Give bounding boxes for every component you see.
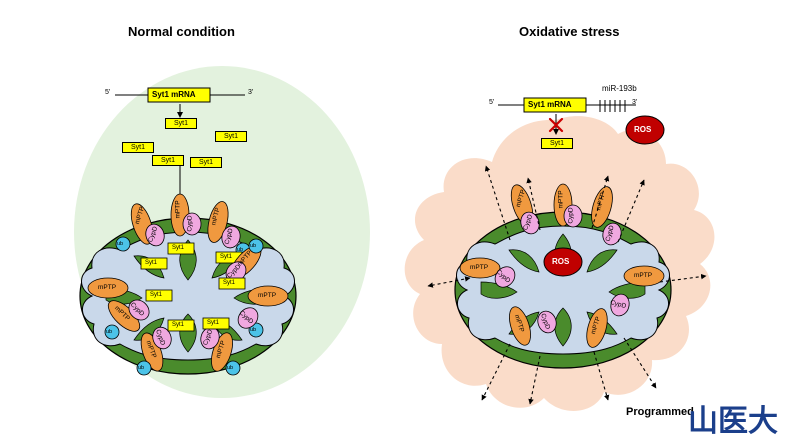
right-three-prime-label: 3'	[632, 99, 637, 106]
ub-label-l7: ub	[250, 327, 256, 333]
mptp-label-r5: mPTP	[634, 272, 652, 279]
syt1-box-blocked: Syt1	[541, 138, 573, 149]
ub-label-l5: ub	[138, 365, 144, 371]
right-five-prime-label: 5'	[489, 99, 494, 106]
mptp-label-l5: mPTP	[258, 292, 276, 299]
ros-label-matrix: ROS	[552, 257, 569, 266]
syt1-box-free-2: Syt1	[122, 142, 154, 153]
syt1-box-free-3: Syt1	[215, 131, 247, 142]
left-five-prime-label: 5'	[105, 89, 110, 96]
mptp-label-r2: mPTP	[558, 190, 565, 208]
watermark-logo: 山医大	[688, 396, 778, 440]
mirna-label: miR-193b	[602, 84, 637, 93]
ub-label-l4: ub	[106, 329, 112, 335]
footer-text: Programmed	[626, 406, 694, 418]
syt1-bound-5: Syt1	[150, 292, 162, 298]
syt1-box-free-1: Syt1	[165, 118, 197, 129]
mptp-label-l2: mPTP	[175, 200, 182, 218]
syt1-bound-2: Syt1	[172, 245, 184, 251]
mptp-label-l6: mPTP	[98, 284, 116, 291]
syt1-box-free-5: Syt1	[190, 157, 222, 168]
right-mitochondrion	[455, 212, 671, 368]
ub-label-l3: ub	[250, 243, 256, 249]
syt1-bound-6: Syt1	[172, 322, 184, 328]
ub-label-l6: ub	[227, 365, 233, 371]
left-three-prime-label: 3'	[248, 89, 253, 96]
syt1-bound-3: Syt1	[220, 254, 232, 260]
syt1-bound-4: Syt1	[223, 280, 235, 286]
mptp-label-r4: mPTP	[470, 264, 488, 271]
cypd-label-r2: CypD	[568, 207, 575, 223]
diagram-canvas	[0, 0, 800, 444]
syt1-box-free-4: Syt1	[152, 155, 184, 166]
figure-root: Normal condition Oxidative stress	[0, 0, 800, 444]
left-mrna-label: Syt1 mRNA	[152, 90, 196, 99]
ub-label-l2: ub	[237, 247, 243, 253]
syt1-bound-7: Syt1	[207, 320, 219, 326]
right-mrna-label: Syt1 mRNA	[528, 100, 572, 109]
syt1-bound-1: Syt1	[145, 260, 157, 266]
ros-label-cytosol: ROS	[634, 125, 651, 134]
cypd-label-l2: CypD	[187, 215, 194, 231]
ub-label-l1: ub	[117, 241, 123, 247]
